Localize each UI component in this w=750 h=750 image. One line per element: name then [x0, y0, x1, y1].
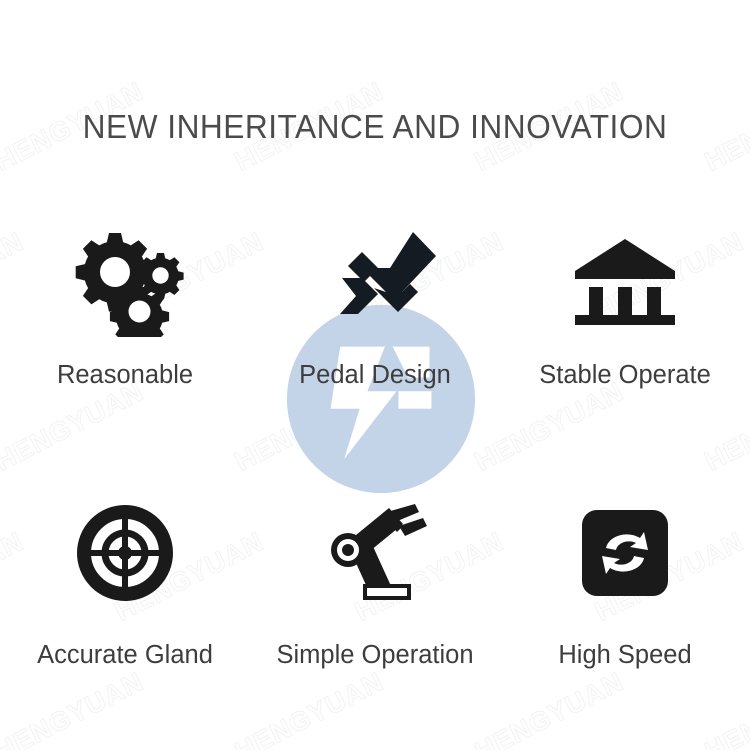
feature-cell-reasonable[interactable]: Reasonable	[0, 218, 250, 448]
feature-cell-stable-operate[interactable]: Stable Operate	[500, 218, 750, 448]
feature-row: Reasonable Pedal Design	[0, 218, 750, 448]
feature-label: Reasonable	[57, 363, 193, 389]
feature-label: Pedal Design	[299, 363, 451, 389]
pedal-foot-icon	[312, 218, 438, 343]
refresh-sync-icon	[582, 490, 668, 615]
feature-label: Accurate Gland	[37, 643, 213, 669]
feature-cell-pedal-design[interactable]: Pedal Design	[250, 218, 500, 448]
feature-row: Accurate Gland	[0, 490, 750, 720]
crosshair-target-icon	[76, 490, 174, 615]
page-title: NEW INHERITANCE AND INNOVATION	[15, 108, 735, 146]
feature-grid-page: HENGYUAN HENGYUAN HENGYUAN HENGYUAN HENG…	[0, 0, 750, 750]
feature-label: Stable Operate	[539, 363, 711, 389]
robot-arm-icon	[319, 490, 431, 615]
feature-cell-high-speed[interactable]: High Speed	[500, 490, 750, 720]
feature-label: High Speed	[558, 643, 691, 669]
feature-cell-simple-operation[interactable]: Simple Operation	[250, 490, 500, 720]
feature-cell-accurate-gland[interactable]: Accurate Gland	[0, 490, 250, 720]
feature-label: Simple Operation	[276, 643, 473, 669]
bank-building-icon	[571, 218, 679, 343]
feature-grid: Reasonable Pedal Design	[0, 218, 750, 720]
gears-icon	[64, 218, 186, 343]
